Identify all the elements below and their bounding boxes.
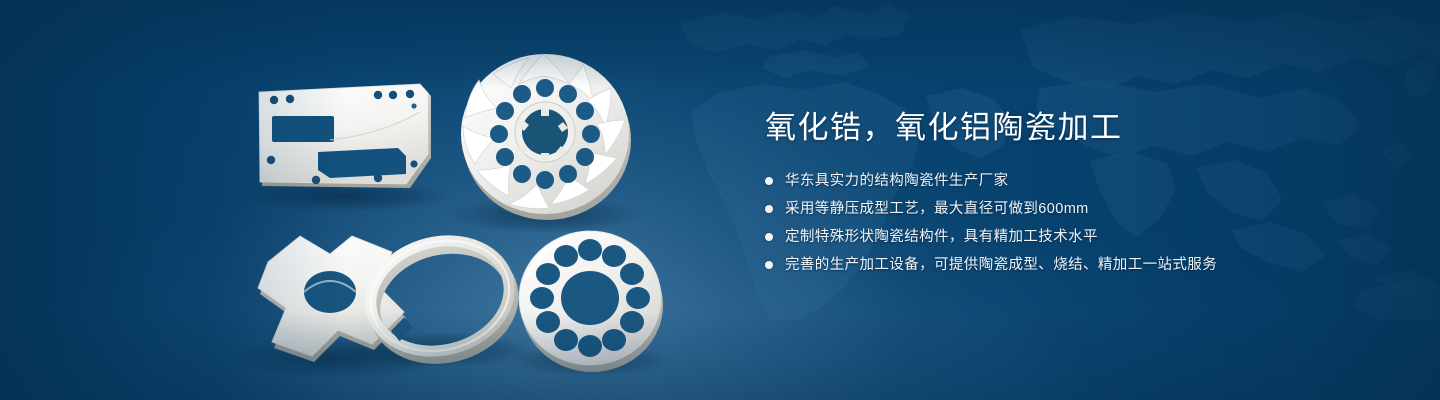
bullet-dot-icon <box>765 261 773 269</box>
banner-headline: 氧化锆，氧化铝陶瓷加工 <box>765 108 1385 148</box>
feature-list: 华东具实力的结构陶瓷件生产厂家 采用等静压成型工艺，最大直径可做到600mm 定… <box>765 170 1385 276</box>
bullet-dot-icon <box>765 205 773 213</box>
hero-banner: 氧化锆，氧化铝陶瓷加工 华东具实力的结构陶瓷件生产厂家 采用等静压成型工艺，最大… <box>0 0 1440 400</box>
feature-text: 完善的生产加工设备，可提供陶瓷成型、烧结、精加工一站式服务 <box>785 254 1217 276</box>
feature-text: 定制特殊形状陶瓷结构件，具有精加工技术水平 <box>785 226 1098 248</box>
feature-text: 采用等静压成型工艺，最大直径可做到600mm <box>785 198 1089 220</box>
bullet-dot-icon <box>765 233 773 241</box>
feature-text: 华东具实力的结构陶瓷件生产厂家 <box>785 170 1009 192</box>
list-item: 定制特殊形状陶瓷结构件，具有精加工技术水平 <box>765 226 1385 248</box>
list-item: 完善的生产加工设备，可提供陶瓷成型、烧结、精加工一站式服务 <box>765 254 1385 276</box>
banner-copy: 氧化锆，氧化铝陶瓷加工 华东具实力的结构陶瓷件生产厂家 采用等静压成型工艺，最大… <box>765 108 1385 276</box>
list-item: 采用等静压成型工艺，最大直径可做到600mm <box>765 198 1385 220</box>
list-item: 华东具实力的结构陶瓷件生产厂家 <box>765 170 1385 192</box>
bullet-dot-icon <box>765 177 773 185</box>
